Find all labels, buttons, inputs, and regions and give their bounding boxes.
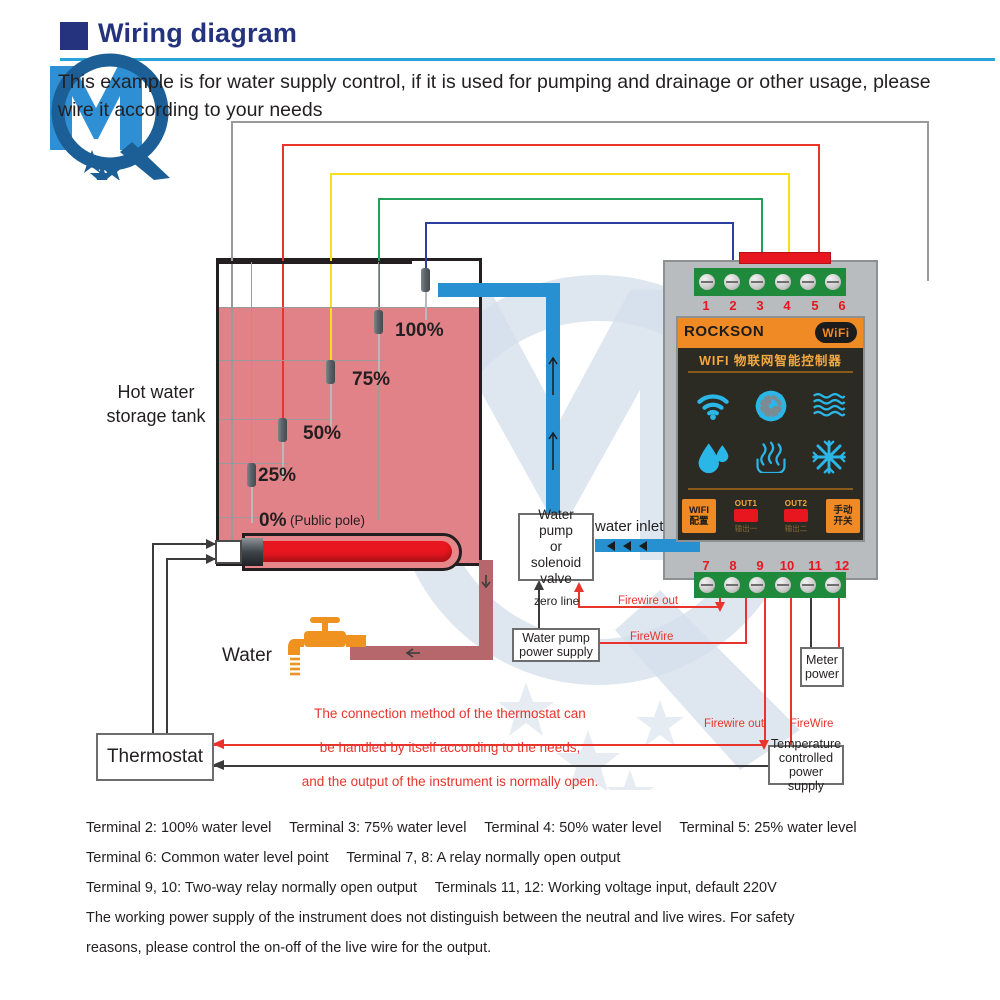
- wifi-badge-icon: WiFi: [815, 322, 857, 343]
- wifi-icon: [692, 385, 734, 427]
- out1-indicator: OUT1 输出一: [726, 499, 766, 534]
- terminal-number-7: 7: [695, 558, 717, 573]
- meter-power-line2: power: [805, 667, 839, 681]
- wire-firewire-1-horizontal: [600, 642, 747, 644]
- water-drop-icon: [692, 436, 734, 478]
- wire-heater-black-v1: [152, 543, 154, 755]
- legend-line-1: Terminal 2: 100% water level Terminal 3:…: [86, 818, 926, 838]
- arrows-inlet-left: [603, 540, 659, 552]
- manual-switch-button[interactable]: 手动 开关: [826, 499, 860, 533]
- level-label-50: 50%: [303, 423, 341, 445]
- temp-ctrl-line2: controlled: [779, 751, 833, 765]
- terminal-screw-5[interactable]: [800, 274, 816, 290]
- firewire-out-label-1: Firewire out: [618, 595, 678, 607]
- level-label-75: 75%: [352, 369, 390, 391]
- header-accent-square: [60, 22, 88, 50]
- tank-level-line-50: [219, 419, 334, 420]
- legend-line-3: Terminal 9, 10: Two-way relay normally o…: [86, 878, 926, 898]
- heating-element-terminal: [215, 540, 242, 564]
- terminal-block-top: [694, 268, 846, 296]
- wire-heater-black-v2: [166, 558, 168, 755]
- terminal-screw-4[interactable]: [775, 274, 791, 290]
- out2-label: OUT2: [776, 499, 816, 508]
- level-probe-50: [326, 360, 335, 430]
- module-subtitle: WIFI 物联网智能控制器: [678, 350, 863, 369]
- out2-indicator: OUT2 输出二: [776, 499, 816, 534]
- firewire-label-1: FireWire: [630, 631, 673, 643]
- header-divider: [60, 58, 995, 61]
- terminal-screw-10[interactable]: [775, 577, 791, 593]
- wifi-config-button[interactable]: WIFI 配置: [682, 499, 716, 533]
- water-waves-icon: [808, 385, 850, 427]
- heating-element-rod: [256, 541, 452, 562]
- thermostat-note-line2: be handled by itself according to the ne…: [280, 739, 620, 756]
- faucet-icon: [288, 615, 366, 685]
- wire-thermostat-black-top: [216, 261, 412, 264]
- heat-icon: [750, 436, 792, 478]
- pump-power-line1: Water pump: [522, 631, 590, 645]
- pump-line2: or: [550, 539, 562, 555]
- terminal-number-11: 11: [804, 558, 826, 573]
- terminal-number-6: 6: [831, 298, 853, 313]
- out2-led: [784, 509, 808, 522]
- terminal-screw-2[interactable]: [724, 274, 740, 290]
- status-icon-grid: [684, 380, 858, 482]
- wire-50-yellow: [330, 173, 790, 175]
- terminal-block-bottom: [694, 572, 846, 598]
- wire-25-red-left: [282, 144, 284, 452]
- terminal-screw-1[interactable]: [699, 274, 715, 290]
- legend-3a: Terminal 9, 10: Two-way relay normally o…: [86, 880, 417, 896]
- wire-50-yellow-left: [330, 173, 332, 380]
- temp-ctrl-line1: Temperature: [771, 737, 841, 751]
- terminal-number-2: 2: [722, 298, 744, 313]
- snowflake-icon: [808, 436, 850, 478]
- terminal-number-10: 10: [776, 558, 798, 573]
- terminal-screw-12[interactable]: [825, 577, 841, 593]
- wire-75-green: [378, 198, 763, 200]
- wire-meter-red: [838, 597, 840, 647]
- brand-bar: ROCKSON WiFi: [678, 318, 863, 348]
- water-pump-power-supply-box: Water pump power supply: [512, 628, 600, 662]
- tank-label: Hot water storage tank: [96, 380, 216, 428]
- level-label-0-suffix: (Public pole): [290, 513, 365, 528]
- water-label: Water: [222, 645, 272, 667]
- legend-line-5: reasons, please control the on-off of th…: [86, 938, 926, 958]
- inlet-pipe-top-horizontal: [438, 283, 558, 297]
- legend-1a: Terminal 2: 100% water level: [86, 820, 271, 836]
- wire-100-blue: [425, 222, 734, 224]
- temp-ctrl-line3: power supply: [770, 765, 842, 793]
- level-label-100: 100%: [395, 320, 444, 342]
- water-inlet-label: water inlet: [595, 518, 663, 535]
- out1-led: [734, 509, 758, 522]
- wire-common-gray: [231, 121, 929, 123]
- wire-common-gray-right: [927, 121, 929, 281]
- legend-2a: Terminal 6: Common water level point: [86, 850, 329, 866]
- out1-sublabel: 输出一: [726, 523, 766, 534]
- page-title: Wiring diagram: [98, 18, 297, 49]
- level-label-0: 0%: [259, 510, 286, 532]
- manual-switch-label-2: 开关: [833, 516, 852, 527]
- tank-guide-line-b: [378, 262, 379, 520]
- zero-line-label: zero line: [534, 594, 579, 608]
- tank-level-line-75: [219, 360, 384, 361]
- terminal-screw-3[interactable]: [749, 274, 765, 290]
- pump-power-line2: power supply: [519, 645, 593, 659]
- legend-line-2: Terminal 6: Common water level point Ter…: [86, 848, 926, 868]
- panel-divider-bottom: [688, 488, 853, 490]
- legend-1c: Terminal 4: 50% water level: [484, 820, 661, 836]
- control-button-row: WIFI 配置 OUT1 输出一 OUT2 输出二 手动 开关: [682, 495, 860, 537]
- legend-1b: Terminal 3: 75% water level: [289, 820, 466, 836]
- wifi-config-label-1: WIFI: [689, 505, 709, 516]
- thermostat-note: The connection method of the thermostat …: [280, 688, 620, 807]
- arrow-inlet-up-1: [547, 355, 559, 395]
- intro-text: This example is for water supply control…: [58, 68, 968, 124]
- temperature-controlled-power-supply-box: Temperature controlled power supply: [768, 745, 844, 785]
- terminal-number-4: 4: [776, 298, 798, 313]
- terminal-number-3: 3: [749, 298, 771, 313]
- terminal-screw-6[interactable]: [825, 274, 841, 290]
- wire-meter-black: [810, 597, 812, 647]
- meter-power-box: Meter power: [800, 647, 844, 687]
- wire-25-red: [282, 144, 820, 146]
- fan-icon: [750, 385, 792, 427]
- tank-label-line2: storage tank: [96, 404, 216, 428]
- legend-2b: Terminal 7, 8: A relay normally open out…: [346, 850, 620, 866]
- pump-line3: solenoid valve: [520, 555, 592, 587]
- brand-name: ROCKSON: [684, 323, 764, 340]
- din-rail-clip: [739, 252, 831, 264]
- arrow-thermostat-red: [212, 738, 226, 750]
- pump-line1: Water pump: [520, 507, 592, 539]
- terminal-number-1: 1: [695, 298, 717, 313]
- arrow-inlet-up-2: [547, 430, 559, 470]
- level-probe-100: [421, 268, 430, 320]
- terminal-screw-9[interactable]: [749, 577, 765, 593]
- thermostat-note-line3: and the output of the instrument is norm…: [280, 773, 620, 790]
- terminal-legend: Terminal 2: 100% water level Terminal 3:…: [86, 818, 926, 968]
- tank-level-line-100: [219, 307, 479, 308]
- terminal-screw-8[interactable]: [724, 577, 740, 593]
- terminal-number-5: 5: [804, 298, 826, 313]
- wire-temp-firewire-out-vertical: [764, 597, 766, 745]
- water-pump-or-solenoid-valve-box: Water pump or solenoid valve: [518, 513, 594, 581]
- arrow-firewire-out-1b: [714, 600, 726, 612]
- terminal-number-12: 12: [831, 558, 853, 573]
- terminal-screw-11[interactable]: [800, 577, 816, 593]
- firewire-out-label-2: Firewire out: [704, 718, 764, 730]
- level-label-25: 25%: [258, 465, 296, 487]
- terminal-number-9: 9: [749, 558, 771, 573]
- manual-switch-label-1: 手动: [833, 505, 852, 516]
- arrow-outlet-down: [480, 575, 492, 589]
- arrow-outlet-left: [404, 644, 422, 662]
- level-probe-0-common: [247, 463, 256, 523]
- inlet-pipe-vertical: [546, 283, 560, 513]
- wifi-config-label-2: 配置: [689, 516, 708, 527]
- panel-divider-top: [688, 371, 853, 373]
- terminal-number-8: 8: [722, 558, 744, 573]
- legend-1d: Terminal 5: 25% water level: [679, 820, 856, 836]
- tank-label-line1: Hot water: [96, 380, 216, 404]
- heating-element-cap: [241, 538, 263, 566]
- meter-power-line1: Meter: [806, 653, 838, 667]
- arrow-thermostat-black: [212, 759, 226, 771]
- terminal-screw-7[interactable]: [699, 577, 715, 593]
- wire-common-gray-left: [231, 121, 233, 541]
- firewire-label-2: FireWire: [790, 718, 833, 730]
- thermostat-box: Thermostat: [96, 733, 214, 781]
- legend-line-4: The working power supply of the instrume…: [86, 908, 926, 928]
- thermostat-label: Thermostat: [107, 749, 203, 765]
- thermostat-note-line1: The connection method of the thermostat …: [280, 705, 620, 722]
- legend-3b: Terminals 11, 12: Working voltage input,…: [435, 880, 777, 896]
- out2-sublabel: 输出二: [776, 523, 816, 534]
- out1-label: OUT1: [726, 499, 766, 508]
